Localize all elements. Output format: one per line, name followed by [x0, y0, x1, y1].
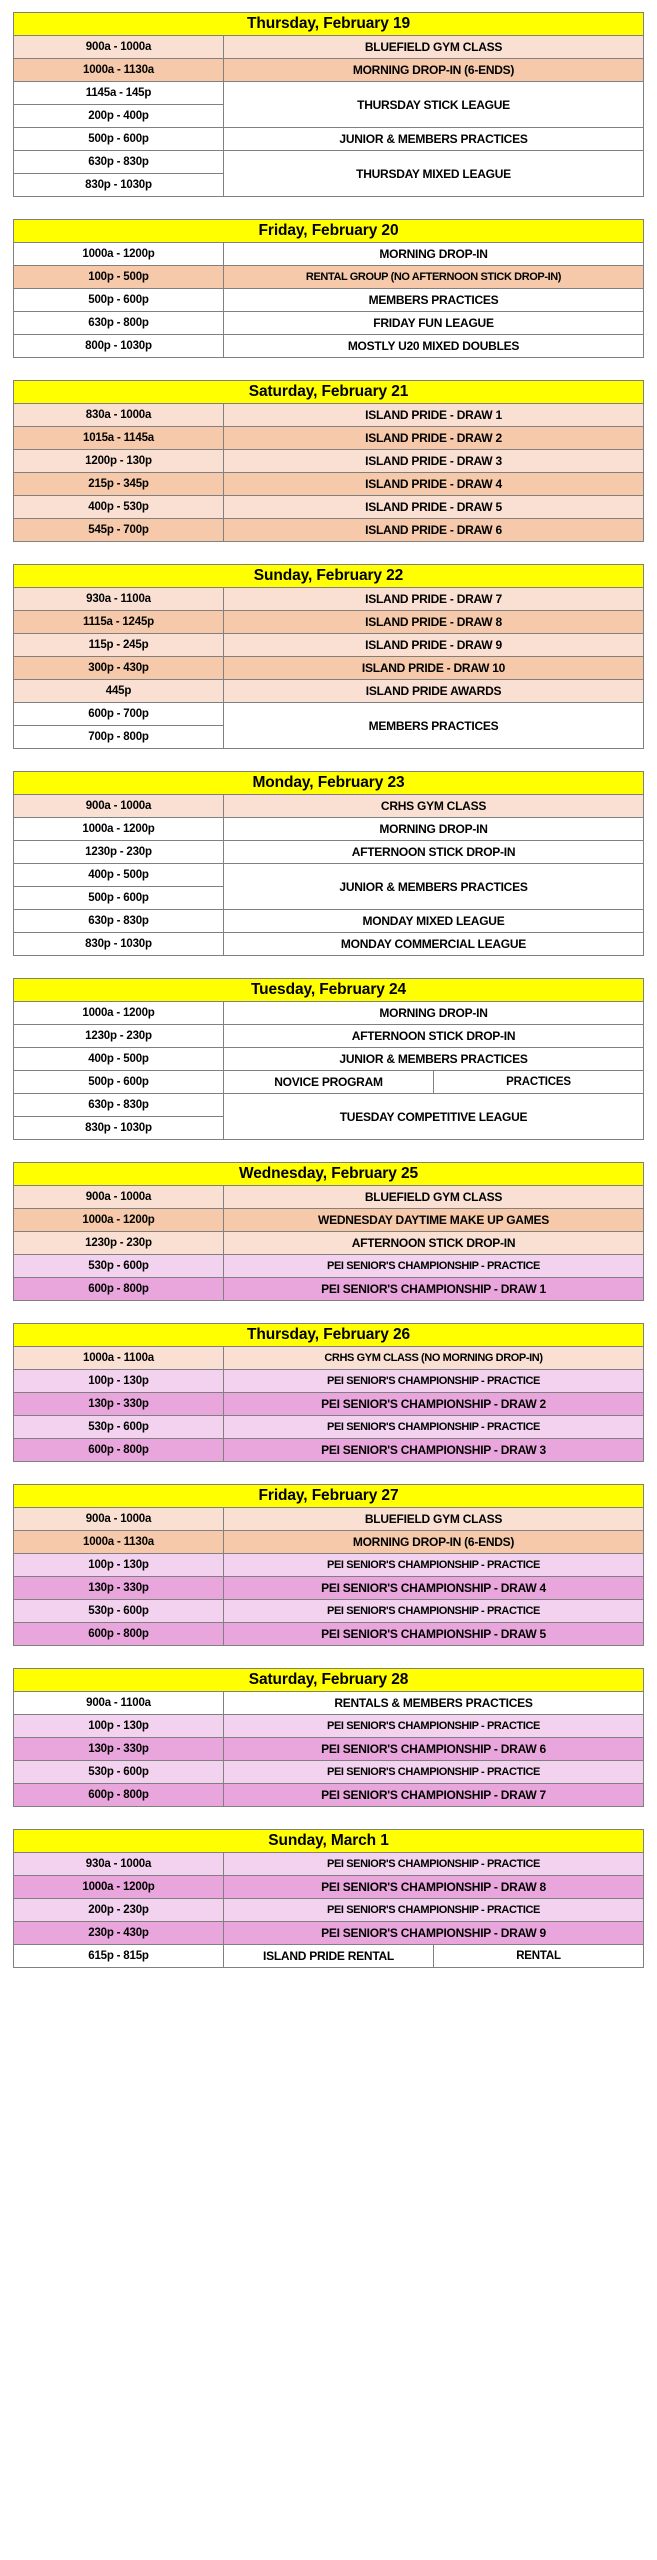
time-cell: 600p - 800p [14, 1623, 224, 1646]
event-cell: ISLAND PRIDE - DRAW 8 [224, 611, 644, 634]
day-schedule-table: Sunday, February 22930a - 1100aISLAND PR… [13, 564, 644, 749]
time-cell: 600p - 700p [14, 703, 224, 726]
schedule-row: 630p - 830pMONDAY MIXED LEAGUE [14, 910, 644, 933]
event-cell: PEI SENIOR'S CHAMPIONSHIP - PRACTICE [224, 1416, 644, 1439]
day-schedule-table: Saturday, February 21830a - 1000aISLAND … [13, 380, 644, 542]
event-cell: PEI SENIOR'S CHAMPIONSHIP - DRAW 7 [224, 1784, 644, 1807]
event-cell: JUNIOR & MEMBERS PRACTICES [224, 128, 644, 151]
event-cell: ISLAND PRIDE - DRAW 7 [224, 588, 644, 611]
schedule-row: 930a - 1100aISLAND PRIDE - DRAW 7 [14, 588, 644, 611]
time-cell: 200p - 230p [14, 1899, 224, 1922]
day-header-row: Thursday, February 26 [14, 1324, 644, 1347]
schedule-row: 530p - 600pPEI SENIOR'S CHAMPIONSHIP - P… [14, 1600, 644, 1623]
event-cell: ISLAND PRIDE AWARDS [224, 680, 644, 703]
day-title: Sunday, March 1 [14, 1830, 644, 1853]
schedule-row: 530p - 600pPEI SENIOR'S CHAMPIONSHIP - P… [14, 1761, 644, 1784]
schedule-row: 1115a - 1245pISLAND PRIDE - DRAW 8 [14, 611, 644, 634]
schedule-row: 130p - 330pPEI SENIOR'S CHAMPIONSHIP - D… [14, 1577, 644, 1600]
schedule-row: 600p - 800pPEI SENIOR'S CHAMPIONSHIP - D… [14, 1278, 644, 1301]
event-cell: PEI SENIOR'S CHAMPIONSHIP - PRACTICE [224, 1370, 644, 1393]
schedule-row: 545p - 700pISLAND PRIDE - DRAW 6 [14, 519, 644, 542]
schedule-row: 500p - 600pNOVICE PROGRAMPRACTICES [14, 1071, 644, 1094]
schedule-row: 900a - 1000aBLUEFIELD GYM CLASS [14, 36, 644, 59]
schedule-row: 900a - 1000aBLUEFIELD GYM CLASS [14, 1508, 644, 1531]
time-cell: 1230p - 230p [14, 1025, 224, 1048]
day-header-row: Monday, February 23 [14, 772, 644, 795]
schedule-container: Thursday, February 19900a - 1000aBLUEFIE… [13, 12, 644, 1968]
event-cell: PEI SENIOR'S CHAMPIONSHIP - DRAW 4 [224, 1577, 644, 1600]
event-cell: PEI SENIOR'S CHAMPIONSHIP - DRAW 5 [224, 1623, 644, 1646]
day-header-row: Friday, February 20 [14, 220, 644, 243]
event-cell: ISLAND PRIDE RENTAL [224, 1945, 434, 1968]
schedule-row: 300p - 430pISLAND PRIDE - DRAW 10 [14, 657, 644, 680]
schedule-row: 100p - 130pPEI SENIOR'S CHAMPIONSHIP - P… [14, 1715, 644, 1738]
event-cell: MORNING DROP-IN (6-ENDS) [224, 59, 644, 82]
schedule-row: 530p - 600pPEI SENIOR'S CHAMPIONSHIP - P… [14, 1416, 644, 1439]
schedule-row: 900a - 1000aBLUEFIELD GYM CLASS [14, 1186, 644, 1209]
day-header-row: Saturday, February 28 [14, 1669, 644, 1692]
schedule-row: 200p - 230pPEI SENIOR'S CHAMPIONSHIP - P… [14, 1899, 644, 1922]
time-cell: 600p - 800p [14, 1439, 224, 1462]
event-cell: PEI SENIOR'S CHAMPIONSHIP - DRAW 1 [224, 1278, 644, 1301]
schedule-row: 1145a - 145pTHURSDAY STICK LEAGUE [14, 82, 644, 105]
time-cell: 100p - 500p [14, 266, 224, 289]
schedule-row: 600p - 700pMEMBERS PRACTICES [14, 703, 644, 726]
schedule-row: 600p - 800pPEI SENIOR'S CHAMPIONSHIP - D… [14, 1623, 644, 1646]
schedule-row: 100p - 130pPEI SENIOR'S CHAMPIONSHIP - P… [14, 1554, 644, 1577]
time-cell: 1000a - 1200p [14, 243, 224, 266]
event-cell: FRIDAY FUN LEAGUE [224, 312, 644, 335]
event-cell: THURSDAY STICK LEAGUE [224, 82, 644, 128]
event-cell: MORNING DROP-IN [224, 818, 644, 841]
schedule-row: 100p - 130pPEI SENIOR'S CHAMPIONSHIP - P… [14, 1370, 644, 1393]
day-title: Tuesday, February 24 [14, 979, 644, 1002]
time-cell: 530p - 600p [14, 1600, 224, 1623]
day-title: Thursday, February 19 [14, 13, 644, 36]
event-cell: PEI SENIOR'S CHAMPIONSHIP - PRACTICE [224, 1554, 644, 1577]
schedule-row: 800p - 1030pMOSTLY U20 MIXED DOUBLES [14, 335, 644, 358]
schedule-row: 1200p - 130pISLAND PRIDE - DRAW 3 [14, 450, 644, 473]
schedule-row: 630p - 830pTHURSDAY MIXED LEAGUE [14, 151, 644, 174]
time-cell: 830p - 1030p [14, 174, 224, 197]
day-schedule-table: Thursday, February 19900a - 1000aBLUEFIE… [13, 12, 644, 197]
event-cell: PEI SENIOR'S CHAMPIONSHIP - DRAW 2 [224, 1393, 644, 1416]
event-cell: PEI SENIOR'S CHAMPIONSHIP - PRACTICE [224, 1853, 644, 1876]
schedule-row: 1000a - 1130aMORNING DROP-IN (6-ENDS) [14, 1531, 644, 1554]
event-cell: TUESDAY COMPETITIVE LEAGUE [224, 1094, 644, 1140]
time-cell: 600p - 800p [14, 1784, 224, 1807]
event-cell: ISLAND PRIDE - DRAW 9 [224, 634, 644, 657]
event-cell: PEI SENIOR'S CHAMPIONSHIP - PRACTICE [224, 1715, 644, 1738]
schedule-row: 1015a - 1145aISLAND PRIDE - DRAW 2 [14, 427, 644, 450]
time-cell: 400p - 500p [14, 864, 224, 887]
time-cell: 1000a - 1100a [14, 1347, 224, 1370]
day-title: Monday, February 23 [14, 772, 644, 795]
event-secondary-cell: PRACTICES [434, 1071, 644, 1094]
event-cell: AFTERNOON STICK DROP-IN [224, 841, 644, 864]
time-cell: 530p - 600p [14, 1416, 224, 1439]
day-header-row: Saturday, February 21 [14, 381, 644, 404]
time-cell: 1115a - 1245p [14, 611, 224, 634]
event-cell: THURSDAY MIXED LEAGUE [224, 151, 644, 197]
schedule-row: 215p - 345pISLAND PRIDE - DRAW 4 [14, 473, 644, 496]
time-cell: 400p - 500p [14, 1048, 224, 1071]
schedule-row: 130p - 330pPEI SENIOR'S CHAMPIONSHIP - D… [14, 1738, 644, 1761]
time-cell: 1145a - 145p [14, 82, 224, 105]
schedule-row: 1000a - 1200pPEI SENIOR'S CHAMPIONSHIP -… [14, 1876, 644, 1899]
time-cell: 900a - 1100a [14, 1692, 224, 1715]
event-cell: PEI SENIOR'S CHAMPIONSHIP - DRAW 6 [224, 1738, 644, 1761]
time-cell: 1000a - 1130a [14, 1531, 224, 1554]
event-cell: JUNIOR & MEMBERS PRACTICES [224, 864, 644, 910]
day-header-row: Sunday, March 1 [14, 1830, 644, 1853]
time-cell: 545p - 700p [14, 519, 224, 542]
schedule-row: 115p - 245pISLAND PRIDE - DRAW 9 [14, 634, 644, 657]
day-header-row: Thursday, February 19 [14, 13, 644, 36]
time-cell: 230p - 430p [14, 1922, 224, 1945]
time-cell: 1000a - 1130a [14, 59, 224, 82]
day-header-row: Wednesday, February 25 [14, 1163, 644, 1186]
time-cell: 1015a - 1145a [14, 427, 224, 450]
time-cell: 530p - 600p [14, 1255, 224, 1278]
time-cell: 615p - 815p [14, 1945, 224, 1968]
time-cell: 500p - 600p [14, 1071, 224, 1094]
day-title: Wednesday, February 25 [14, 1163, 644, 1186]
schedule-row: 400p - 500pJUNIOR & MEMBERS PRACTICES [14, 1048, 644, 1071]
time-cell: 1000a - 1200p [14, 1876, 224, 1899]
schedule-row: 130p - 330pPEI SENIOR'S CHAMPIONSHIP - D… [14, 1393, 644, 1416]
event-cell: PEI SENIOR'S CHAMPIONSHIP - PRACTICE [224, 1255, 644, 1278]
event-cell: MOSTLY U20 MIXED DOUBLES [224, 335, 644, 358]
schedule-row: 1000a - 1200pWEDNESDAY DAYTIME MAKE UP G… [14, 1209, 644, 1232]
time-cell: 215p - 345p [14, 473, 224, 496]
day-schedule-table: Wednesday, February 25900a - 1000aBLUEFI… [13, 1162, 644, 1301]
time-cell: 100p - 130p [14, 1370, 224, 1393]
time-cell: 500p - 600p [14, 289, 224, 312]
event-cell: PEI SENIOR'S CHAMPIONSHIP - PRACTICE [224, 1600, 644, 1623]
time-cell: 700p - 800p [14, 726, 224, 749]
schedule-row: 600p - 800pPEI SENIOR'S CHAMPIONSHIP - D… [14, 1784, 644, 1807]
day-title: Thursday, February 26 [14, 1324, 644, 1347]
schedule-row: 830a - 1000aISLAND PRIDE - DRAW 1 [14, 404, 644, 427]
day-title: Saturday, February 28 [14, 1669, 644, 1692]
schedule-row: 1000a - 1200pMORNING DROP-IN [14, 243, 644, 266]
event-cell: PEI SENIOR'S CHAMPIONSHIP - PRACTICE [224, 1899, 644, 1922]
day-schedule-table: Friday, February 27900a - 1000aBLUEFIELD… [13, 1484, 644, 1646]
day-schedule-table: Saturday, February 28900a - 1100aRENTALS… [13, 1668, 644, 1807]
day-title: Sunday, February 22 [14, 565, 644, 588]
event-cell: CRHS GYM CLASS (NO MORNING DROP-IN) [224, 1347, 644, 1370]
schedule-row: 1230p - 230pAFTERNOON STICK DROP-IN [14, 1232, 644, 1255]
day-schedule-table: Sunday, March 1930a - 1000aPEI SENIOR'S … [13, 1829, 644, 1968]
event-cell: MORNING DROP-IN (6-ENDS) [224, 1531, 644, 1554]
event-cell: BLUEFIELD GYM CLASS [224, 1508, 644, 1531]
event-cell: CRHS GYM CLASS [224, 795, 644, 818]
event-cell: ISLAND PRIDE - DRAW 2 [224, 427, 644, 450]
time-cell: 500p - 600p [14, 128, 224, 151]
event-cell: ISLAND PRIDE - DRAW 4 [224, 473, 644, 496]
time-cell: 630p - 830p [14, 151, 224, 174]
event-cell: PEI SENIOR'S CHAMPIONSHIP - DRAW 8 [224, 1876, 644, 1899]
day-title: Saturday, February 21 [14, 381, 644, 404]
schedule-row: 1000a - 1200pMORNING DROP-IN [14, 818, 644, 841]
day-header-row: Tuesday, February 24 [14, 979, 644, 1002]
time-cell: 1230p - 230p [14, 1232, 224, 1255]
schedule-row: 930a - 1000aPEI SENIOR'S CHAMPIONSHIP - … [14, 1853, 644, 1876]
day-title: Friday, February 20 [14, 220, 644, 243]
event-secondary-cell: RENTAL [434, 1945, 644, 1968]
event-cell: BLUEFIELD GYM CLASS [224, 1186, 644, 1209]
event-cell: RENTAL GROUP (NO AFTERNOON STICK DROP-IN… [224, 266, 644, 289]
schedule-row: 445pISLAND PRIDE AWARDS [14, 680, 644, 703]
schedule-row: 1000a - 1130aMORNING DROP-IN (6-ENDS) [14, 59, 644, 82]
schedule-row: 1000a - 1100aCRHS GYM CLASS (NO MORNING … [14, 1347, 644, 1370]
event-cell: ISLAND PRIDE - DRAW 10 [224, 657, 644, 680]
schedule-row: 500p - 600pMEMBERS PRACTICES [14, 289, 644, 312]
day-title: Friday, February 27 [14, 1485, 644, 1508]
time-cell: 500p - 600p [14, 887, 224, 910]
day-header-row: Sunday, February 22 [14, 565, 644, 588]
time-cell: 1230p - 230p [14, 841, 224, 864]
schedule-row: 100p - 500pRENTAL GROUP (NO AFTERNOON ST… [14, 266, 644, 289]
time-cell: 530p - 600p [14, 1761, 224, 1784]
schedule-row: 1000a - 1200pMORNING DROP-IN [14, 1002, 644, 1025]
time-cell: 200p - 400p [14, 105, 224, 128]
day-header-row: Friday, February 27 [14, 1485, 644, 1508]
event-cell: RENTALS & MEMBERS PRACTICES [224, 1692, 644, 1715]
schedule-row: 1230p - 230pAFTERNOON STICK DROP-IN [14, 1025, 644, 1048]
schedule-row: 1230p - 230pAFTERNOON STICK DROP-IN [14, 841, 644, 864]
time-cell: 930a - 1100a [14, 588, 224, 611]
time-cell: 400p - 530p [14, 496, 224, 519]
time-cell: 1000a - 1200p [14, 818, 224, 841]
schedule-row: 830p - 1030pMONDAY COMMERCIAL LEAGUE [14, 933, 644, 956]
schedule-row: 400p - 530pISLAND PRIDE - DRAW 5 [14, 496, 644, 519]
time-cell: 930a - 1000a [14, 1853, 224, 1876]
time-cell: 800p - 1030p [14, 335, 224, 358]
event-cell: MORNING DROP-IN [224, 1002, 644, 1025]
day-schedule-table: Tuesday, February 241000a - 1200pMORNING… [13, 978, 644, 1140]
time-cell: 130p - 330p [14, 1738, 224, 1761]
schedule-row: 600p - 800pPEI SENIOR'S CHAMPIONSHIP - D… [14, 1439, 644, 1462]
event-cell: WEDNESDAY DAYTIME MAKE UP GAMES [224, 1209, 644, 1232]
time-cell: 900a - 1000a [14, 1186, 224, 1209]
event-cell: PEI SENIOR'S CHAMPIONSHIP - DRAW 3 [224, 1439, 644, 1462]
time-cell: 900a - 1000a [14, 795, 224, 818]
day-schedule-table: Monday, February 23900a - 1000aCRHS GYM … [13, 771, 644, 956]
time-cell: 130p - 330p [14, 1577, 224, 1600]
time-cell: 100p - 130p [14, 1554, 224, 1577]
time-cell: 830a - 1000a [14, 404, 224, 427]
event-cell: ISLAND PRIDE - DRAW 5 [224, 496, 644, 519]
schedule-row: 530p - 600pPEI SENIOR'S CHAMPIONSHIP - P… [14, 1255, 644, 1278]
time-cell: 630p - 830p [14, 1094, 224, 1117]
event-cell: PEI SENIOR'S CHAMPIONSHIP - DRAW 9 [224, 1922, 644, 1945]
time-cell: 1200p - 130p [14, 450, 224, 473]
event-cell: BLUEFIELD GYM CLASS [224, 36, 644, 59]
time-cell: 1000a - 1200p [14, 1209, 224, 1232]
schedule-row: 900a - 1100aRENTALS & MEMBERS PRACTICES [14, 1692, 644, 1715]
schedule-row: 630p - 800pFRIDAY FUN LEAGUE [14, 312, 644, 335]
schedule-row: 615p - 815pISLAND PRIDE RENTALRENTAL [14, 1945, 644, 1968]
time-cell: 115p - 245p [14, 634, 224, 657]
event-cell: PEI SENIOR'S CHAMPIONSHIP - PRACTICE [224, 1761, 644, 1784]
event-cell: AFTERNOON STICK DROP-IN [224, 1025, 644, 1048]
day-schedule-table: Thursday, February 261000a - 1100aCRHS G… [13, 1323, 644, 1462]
event-cell: AFTERNOON STICK DROP-IN [224, 1232, 644, 1255]
event-cell: MEMBERS PRACTICES [224, 289, 644, 312]
schedule-row: 400p - 500pJUNIOR & MEMBERS PRACTICES [14, 864, 644, 887]
time-cell: 445p [14, 680, 224, 703]
time-cell: 630p - 800p [14, 312, 224, 335]
event-cell: JUNIOR & MEMBERS PRACTICES [224, 1048, 644, 1071]
schedule-row: 500p - 600pJUNIOR & MEMBERS PRACTICES [14, 128, 644, 151]
schedule-row: 230p - 430pPEI SENIOR'S CHAMPIONSHIP - D… [14, 1922, 644, 1945]
time-cell: 830p - 1030p [14, 933, 224, 956]
event-cell: MORNING DROP-IN [224, 243, 644, 266]
event-cell: NOVICE PROGRAM [224, 1071, 434, 1094]
schedule-row: 900a - 1000aCRHS GYM CLASS [14, 795, 644, 818]
time-cell: 900a - 1000a [14, 36, 224, 59]
event-cell: ISLAND PRIDE - DRAW 6 [224, 519, 644, 542]
event-cell: MONDAY COMMERCIAL LEAGUE [224, 933, 644, 956]
time-cell: 830p - 1030p [14, 1117, 224, 1140]
day-schedule-table: Friday, February 201000a - 1200pMORNING … [13, 219, 644, 358]
time-cell: 1000a - 1200p [14, 1002, 224, 1025]
event-cell: ISLAND PRIDE - DRAW 3 [224, 450, 644, 473]
event-cell: MEMBERS PRACTICES [224, 703, 644, 749]
time-cell: 630p - 830p [14, 910, 224, 933]
time-cell: 900a - 1000a [14, 1508, 224, 1531]
time-cell: 300p - 430p [14, 657, 224, 680]
schedule-row: 630p - 830pTUESDAY COMPETITIVE LEAGUE [14, 1094, 644, 1117]
time-cell: 100p - 130p [14, 1715, 224, 1738]
event-cell: ISLAND PRIDE - DRAW 1 [224, 404, 644, 427]
time-cell: 600p - 800p [14, 1278, 224, 1301]
time-cell: 130p - 330p [14, 1393, 224, 1416]
event-cell: MONDAY MIXED LEAGUE [224, 910, 644, 933]
